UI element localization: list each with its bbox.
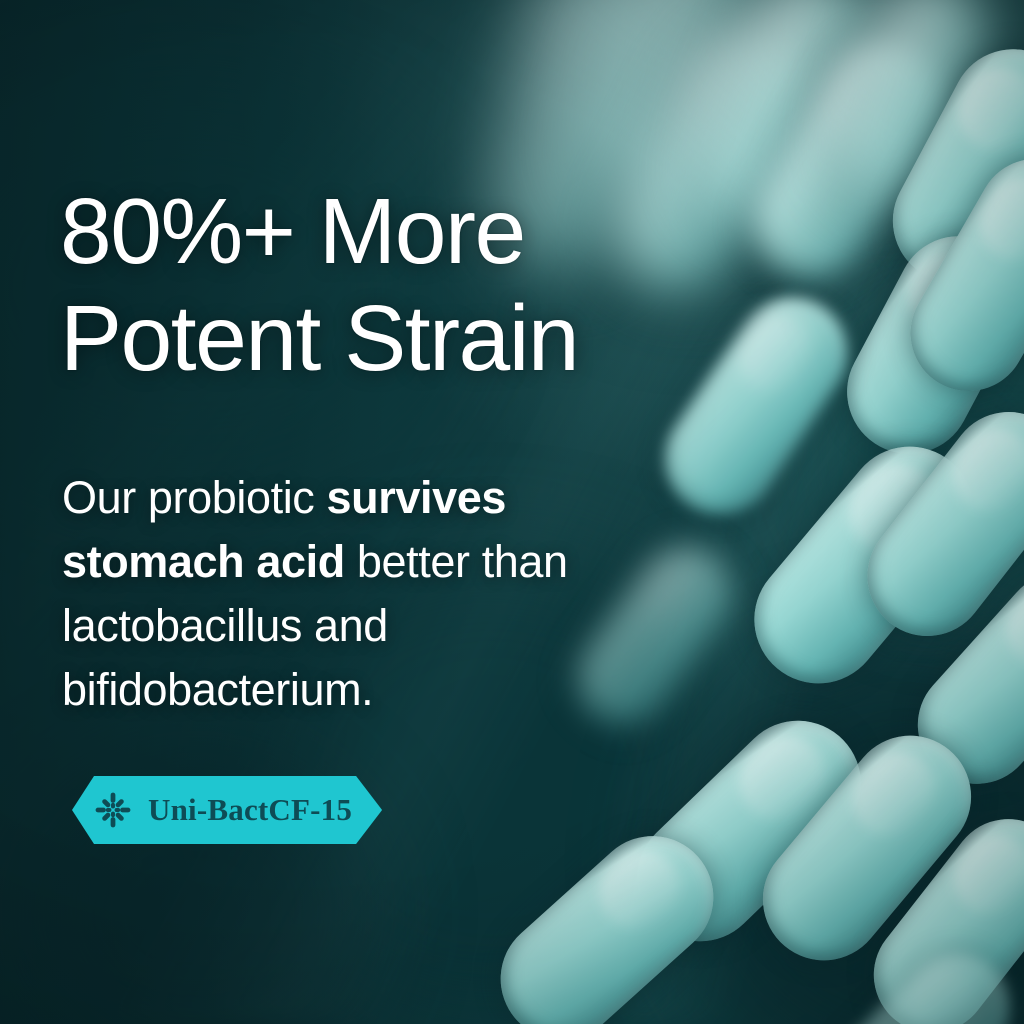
content-layer: 80%+ More Potent Strain Our probiotic su… [0, 0, 1024, 1024]
headline-line-1: 80%+ More [60, 178, 740, 285]
promo-canvas: 80%+ More Potent Strain Our probiotic su… [0, 0, 1024, 1024]
strain-badge-label: Uni-BactCF-15 [148, 792, 352, 828]
headline-line-2: Potent Strain [60, 285, 740, 392]
strain-badge[interactable]: Uni-BactCF-15 [72, 776, 382, 844]
subcopy-part-a: Our probiotic [62, 472, 327, 523]
page-title: 80%+ More Potent Strain [60, 178, 740, 392]
radial-burst-icon [94, 791, 132, 829]
subcopy-paragraph: Our probiotic survives stomach acid bett… [62, 466, 632, 722]
